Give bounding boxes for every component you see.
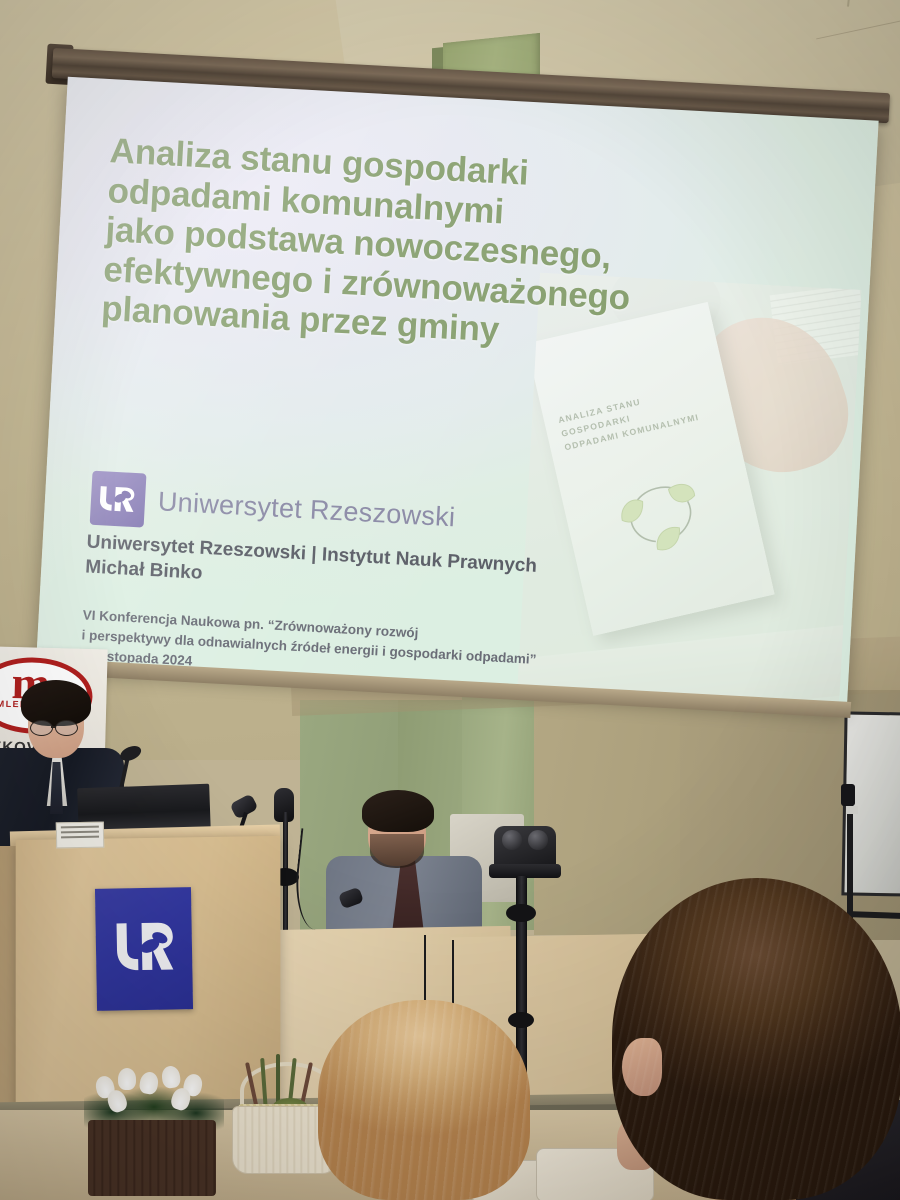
flipchart-clamp	[841, 784, 855, 806]
podium-sticker	[56, 822, 104, 849]
audience-head-brown	[612, 878, 900, 1200]
tripod-knob	[506, 904, 536, 922]
ptz-camera	[494, 826, 556, 868]
ceiling-tile-line	[816, 0, 900, 39]
projected-slide: ANALIZA STANU GOSPODARKI ODPADAMI KOMUNA…	[36, 77, 879, 710]
recycling-leaves-icon	[607, 458, 717, 568]
conference-photo-scene: ANALIZA STANU GOSPODARKI ODPADAMI KOMUNA…	[0, 0, 900, 1200]
seated-hair	[362, 790, 434, 832]
book-cover-title: ANALIZA STANU GOSPODARKI ODPADAMI KOMUNA…	[557, 381, 712, 455]
ceiling-tile-line	[847, 0, 862, 7]
seated-moderator	[332, 790, 472, 938]
slide-title: Analiza stanu gospodarki odpadami komuna…	[100, 131, 730, 362]
dark-wicker-planter	[88, 1120, 216, 1196]
back-wall-right	[534, 700, 694, 935]
ur-logo-icon	[90, 471, 147, 528]
seated-beard	[370, 834, 424, 868]
eyeglasses-icon	[30, 720, 84, 734]
audience-head-blonde-left	[318, 1000, 530, 1200]
projection-screen-assembly: ANALIZA STANU GOSPODARKI ODPADAMI KOMUNA…	[19, 18, 900, 723]
cyclamen-flower	[118, 1068, 136, 1090]
tripod-knob	[508, 1012, 534, 1028]
podium-ur-plaque	[95, 887, 193, 1011]
slide-brand-text: Uniwersytet Rzeszowski	[157, 486, 456, 533]
flipchart-clamp-pad	[846, 806, 858, 814]
